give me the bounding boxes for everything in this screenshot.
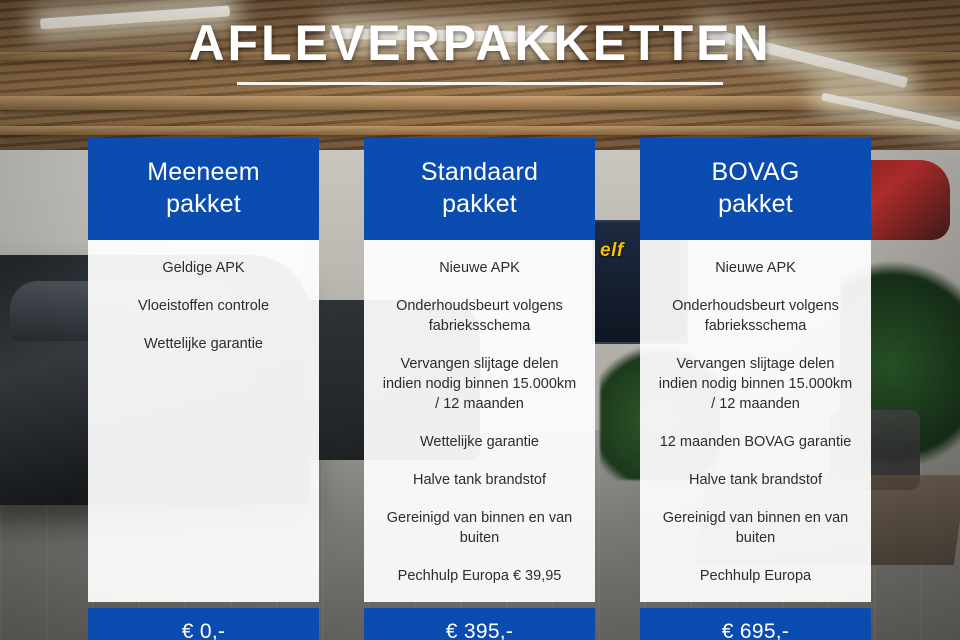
package-feature: Nieuwe APK: [656, 258, 855, 278]
package-card-header: BOVAG pakket: [640, 138, 871, 240]
package-feature: Wettelijke garantie: [104, 334, 303, 354]
package-feature: Gereinigd van binnen en van buiten: [380, 508, 579, 548]
package-price: € 395,-: [364, 608, 595, 640]
package-feature: Pechhulp Europa € 39,95: [380, 566, 579, 586]
package-feature: Vervangen slijtage delen indien nodig bi…: [380, 354, 579, 414]
page-title-block: AFLEVERPAKKETTEN: [0, 18, 960, 85]
package-feature-list: Nieuwe APK Onderhoudsbeurt volgens fabri…: [364, 240, 595, 602]
package-feature: Vloeistoffen controle: [104, 296, 303, 316]
title-divider: [237, 82, 723, 85]
package-title-line1: Meeneem: [96, 156, 311, 188]
package-feature: Vervangen slijtage delen indien nodig bi…: [656, 354, 855, 414]
package-feature: Nieuwe APK: [380, 258, 579, 278]
package-title-line1: BOVAG: [648, 156, 863, 188]
package-feature: Onderhoudsbeurt volgens fabrieksschema: [656, 296, 855, 336]
package-price: € 695,-: [640, 608, 871, 640]
promo-poster: elf AFLEVERPAKKETTEN Meeneem pakket Geld…: [0, 0, 960, 640]
package-feature-list: Geldige APK Vloeistoffen controle Wettel…: [88, 240, 319, 602]
package-feature-list: Nieuwe APK Onderhoudsbeurt volgens fabri…: [640, 240, 871, 602]
package-card-header: Meeneem pakket: [88, 138, 319, 240]
package-feature: Halve tank brandstof: [380, 470, 579, 490]
package-title-line2: pakket: [372, 188, 587, 220]
page-title: AFLEVERPAKKETTEN: [0, 18, 960, 68]
package-feature: Wettelijke garantie: [380, 432, 579, 452]
package-feature: Geldige APK: [104, 258, 303, 278]
package-feature: Onderhoudsbeurt volgens fabrieksschema: [380, 296, 579, 336]
package-feature: Gereinigd van binnen en van buiten: [656, 508, 855, 548]
package-feature: Halve tank brandstof: [656, 470, 855, 490]
package-title-line1: Standaard: [372, 156, 587, 188]
package-card-list: Meeneem pakket Geldige APK Vloeistoffen …: [88, 138, 872, 640]
package-feature: 12 maanden BOVAG garantie: [656, 432, 855, 452]
package-card-header: Standaard pakket: [364, 138, 595, 240]
package-title-line2: pakket: [96, 188, 311, 220]
package-card-standaard[interactable]: Standaard pakket Nieuwe APK Onderhoudsbe…: [364, 138, 595, 640]
package-card-bovag[interactable]: BOVAG pakket Nieuwe APK Onderhoudsbeurt …: [640, 138, 871, 640]
package-price: € 0,-: [88, 608, 319, 640]
package-card-meeneem[interactable]: Meeneem pakket Geldige APK Vloeistoffen …: [88, 138, 319, 640]
package-title-line2: pakket: [648, 188, 863, 220]
package-feature: Pechhulp Europa: [656, 566, 855, 586]
